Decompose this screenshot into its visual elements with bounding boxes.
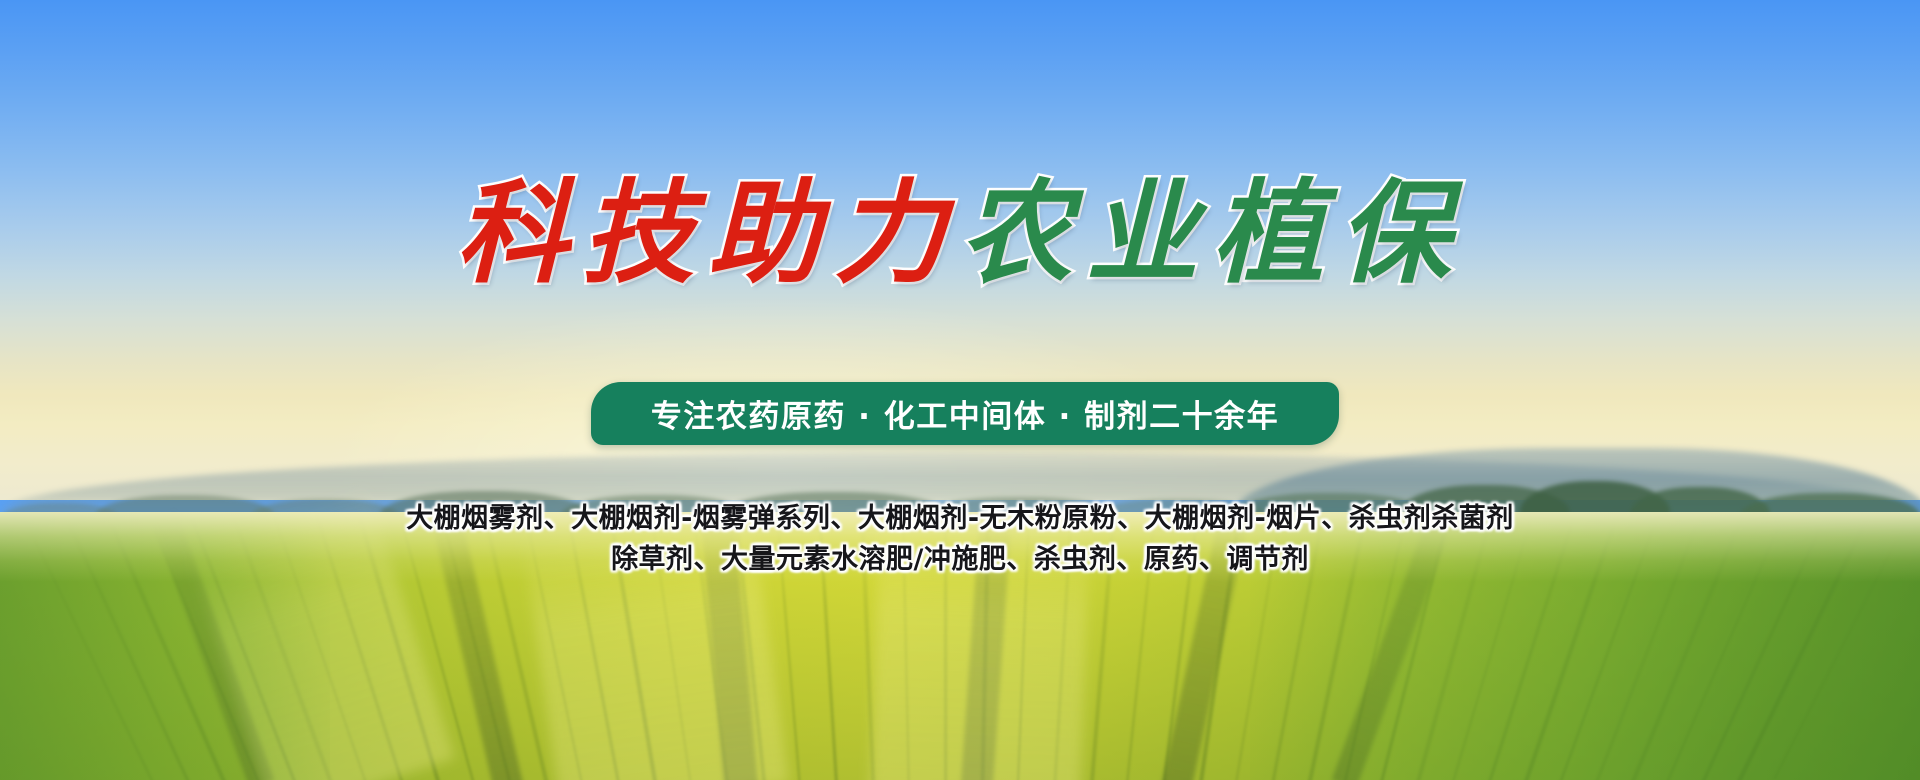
hero-banner: 科技助力农业植保 专注农药原药 · 化工中间体 · 制剂二十余年 大棚烟雾剂、大… bbox=[0, 0, 1920, 780]
description-line-1: 大棚烟雾剂、大棚烟剂-烟雾弹系列、大棚烟剂-无木粉原粉、大棚烟剂-烟片、杀虫剂杀… bbox=[0, 498, 1920, 539]
description-line-2: 除草剂、大量元素水溶肥/冲施肥、杀虫剂、原药、调节剂 bbox=[0, 539, 1920, 580]
tagline-badge-text: 专注农药原药 · 化工中间体 · 制剂二十余年 bbox=[651, 391, 1279, 436]
tagline-badge: 专注农药原药 · 化工中间体 · 制剂二十余年 bbox=[591, 382, 1339, 445]
product-description: 大棚烟雾剂、大棚烟剂-烟雾弹系列、大棚烟剂-无木粉原粉、大棚烟剂-烟片、杀虫剂杀… bbox=[0, 498, 1920, 580]
